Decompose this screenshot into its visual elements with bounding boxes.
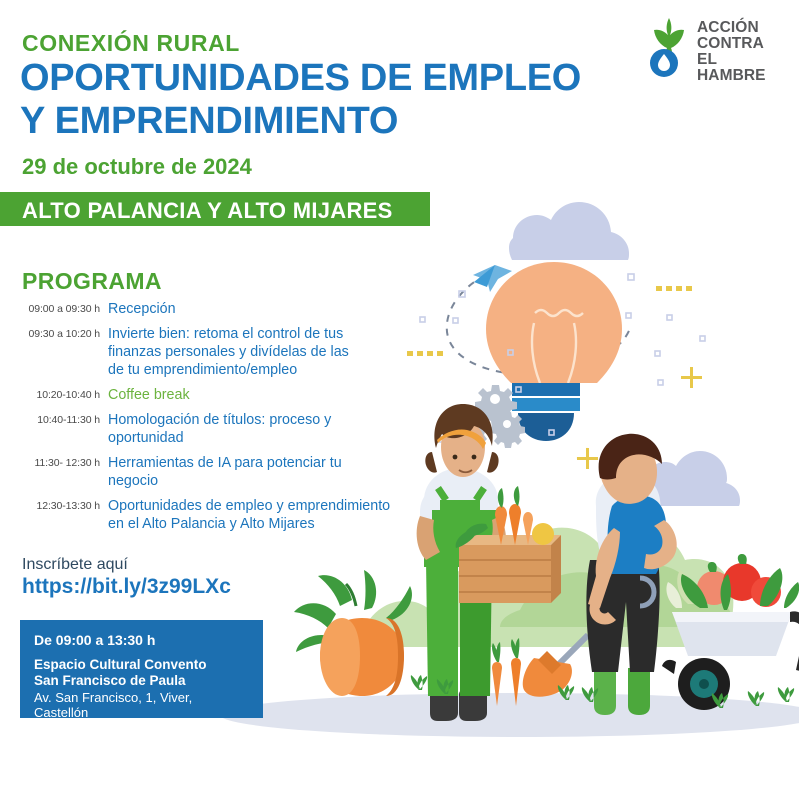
gears-icon	[456, 385, 525, 448]
footer-logos: Organiza: Financian: ACCIÓ CONTRA LA FAM…	[0, 735, 799, 800]
ground-shadow	[220, 693, 799, 737]
pumpkin-icon	[294, 570, 412, 696]
man-farmer-figure	[586, 434, 676, 715]
agenda-row: 10:20-10:40 hCoffee break	[20, 386, 420, 404]
event-date: 29 de octubre de 2024	[22, 154, 252, 180]
leaf-icon	[654, 18, 684, 54]
agenda-row: 12:30-13:30 hOportunidades de empleo y e…	[20, 497, 420, 533]
signup-label: Inscríbete aquí	[22, 556, 231, 574]
accion-contra-el-hambre-wordmark: ACCIÓN CONTRA EL HAMBRE	[697, 20, 785, 84]
programa-heading: PROGRAMA	[22, 268, 162, 295]
woman-farmer-figure	[417, 404, 561, 721]
poster-kicker: CONEXIÓN RURAL	[22, 30, 240, 57]
orbit-dashes	[447, 275, 631, 374]
agenda-row-time: 10:40-11:30 h	[20, 411, 100, 426]
agenda-row: 09:00 a 09:30 hRecepción	[20, 300, 420, 318]
field-green-dark	[500, 565, 734, 627]
lightbulb-icon	[486, 262, 622, 441]
agenda-list: 09:00 a 09:30 hRecepción09:30 a 10:20 hI…	[20, 300, 420, 540]
venue-address: Av. San Francisco, 1, Viver, Castellón	[34, 690, 249, 720]
wheelbarrow-icon	[662, 554, 799, 710]
field-green	[345, 528, 733, 647]
agenda-row-title: Invierte bien: retoma el control de tus …	[100, 325, 420, 379]
agenda-row-title: Oportunidades de empleo y emprendimiento…	[100, 497, 420, 533]
paper-plane-icon	[473, 265, 512, 292]
agenda-row-time: 09:00 a 09:30 h	[20, 300, 100, 315]
plant-icon	[411, 675, 794, 708]
signup-block: Inscríbete aquí https://bit.ly/3z99LXc	[22, 556, 231, 599]
agenda-row-title: Homologación de títulos: proceso y oport…	[100, 411, 420, 447]
agenda-row-title: Coffee break	[100, 386, 420, 404]
accion-contra-el-hambre-logo: ACCIÓN CONTRA EL HAMBRE	[645, 16, 785, 78]
agenda-row-time: 11:30- 12:30 h	[20, 454, 100, 469]
agenda-row-title: Recepción	[100, 300, 420, 318]
agenda-row-time: 09:30 a 10:20 h	[20, 325, 100, 340]
vegetable-crate-icon	[456, 486, 561, 603]
cloud-icon	[509, 202, 740, 506]
agenda-row: 10:40-11:30 hHomologación de títulos: pr…	[20, 411, 420, 447]
signup-link[interactable]: https://bit.ly/3z99LXc	[22, 575, 231, 599]
agenda-row-title: Herramientas de IA para potenciar tu neg…	[100, 454, 420, 490]
shovel-icon	[523, 635, 588, 697]
sparkle-icon	[407, 274, 705, 469]
region-banner-label: ALTO PALANCIA Y ALTO MIJARES	[22, 198, 393, 224]
venue-time: De 09:00 a 13:30 h	[34, 632, 249, 648]
region-banner: ALTO PALANCIA Y ALTO MIJARES	[0, 192, 430, 226]
poster-root: CONEXIÓN RURAL OPORTUNIDADES DE EMPLEO Y…	[0, 0, 799, 800]
carrot-icon	[492, 638, 521, 706]
agenda-row: 09:30 a 10:20 hInvierte bien: retoma el …	[20, 325, 420, 379]
page-title: OPORTUNIDADES DE EMPLEO Y EMPRENDIMIENTO	[20, 57, 581, 143]
venue-place: Espacio Cultural Convento San Francisco …	[34, 657, 249, 689]
agenda-row-time: 10:20-10:40 h	[20, 386, 100, 401]
agenda-row-time: 12:30-13:30 h	[20, 497, 100, 512]
agenda-row: 11:30- 12:30 hHerramientas de IA para po…	[20, 454, 420, 490]
venue-box: De 09:00 a 13:30 h Espacio Cultural Conv…	[20, 620, 263, 718]
water-drop-icon	[650, 49, 678, 77]
